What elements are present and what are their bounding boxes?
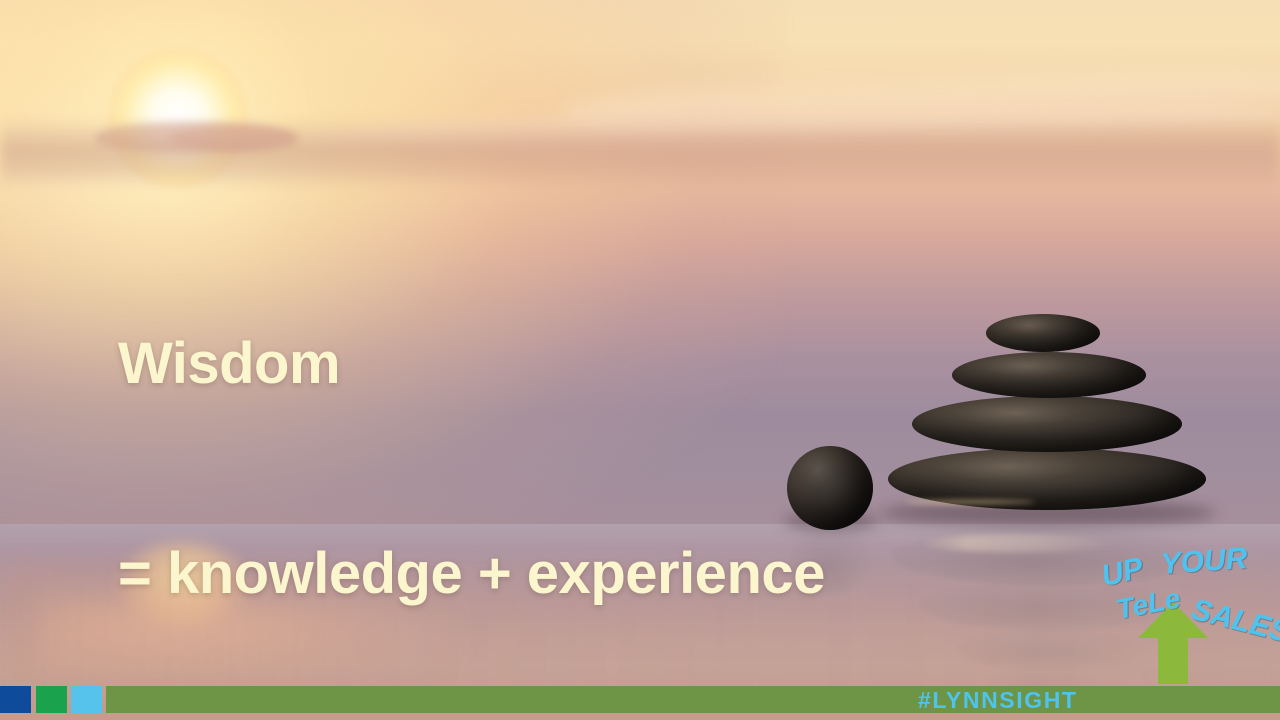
- stone-third: [912, 396, 1182, 452]
- footer-green-bar: [106, 686, 1280, 713]
- headline-line-1: Wisdom: [118, 329, 948, 399]
- footer-swatch-blue: [0, 686, 31, 713]
- headline-line-2: = knowledge + experience: [118, 539, 948, 609]
- brand-logo[interactable]: UP YOUR TeLe SALES: [1098, 536, 1274, 684]
- footer-swatch-green: [36, 686, 67, 713]
- footer-bar: [0, 686, 1280, 713]
- footer-hashtag: #LYNNSIGHT: [918, 687, 1078, 714]
- reflection-sparkle: [918, 534, 1118, 552]
- presentation-slide: Wisdom = knowledge + experience combined…: [0, 0, 1280, 720]
- stone-top: [986, 314, 1100, 352]
- headline-text: Wisdom = knowledge + experience combined…: [118, 189, 948, 720]
- logo-word-up: UP: [1098, 551, 1146, 594]
- logo-word-your: YOUR: [1160, 542, 1249, 582]
- footer-swatch-cyan: [71, 686, 102, 713]
- stone-second: [952, 352, 1146, 398]
- footer-base-strip: [0, 713, 1280, 720]
